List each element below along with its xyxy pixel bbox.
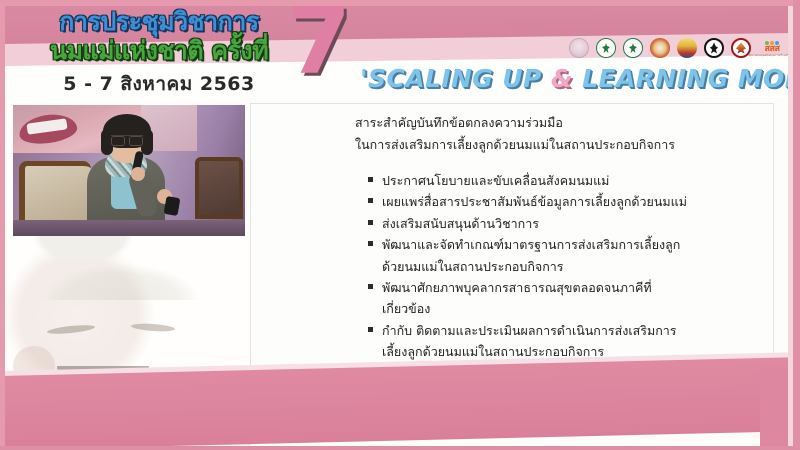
red-seal-logo: [730, 28, 752, 58]
stage-floor: [13, 220, 245, 236]
speaker-presentation-video[interactable]: [13, 105, 245, 236]
speaker-hand: [131, 167, 145, 181]
green-health-logo-1: [595, 28, 617, 58]
frame-border-left: [0, 0, 5, 450]
red-seal-icon: [731, 38, 751, 58]
tagline-part-after: LEARNING MORE': [573, 64, 793, 93]
bullet-continuation-line: เกี่ยวข้อง: [368, 299, 768, 318]
bullet-item: ประกาศนโยบายและขับเคลื่อนสังคมนมแม่: [368, 171, 768, 190]
content-bullet-list: ประกาศนโยบายและขับเคลื่อนสังคมนมแม่เผยแพ…: [368, 171, 768, 363]
black-seal-logo: [703, 28, 725, 58]
bullet-item: พัฒนาศักยภาพบุคลากรสาธารณสุขตลอดจนภาคีที…: [368, 278, 768, 297]
thaihealth-word: สสส: [765, 45, 780, 54]
bullet-item: ส่งเสริมสนับสนุนด้านวิชาการ: [368, 214, 768, 233]
green-health-icon-2: [623, 38, 643, 58]
black-seal-icon: [704, 38, 724, 58]
royal-emblem-logo: [568, 28, 590, 58]
bullet-continuation-line: ด้วยนมแม่ในสถานประกอบกิจการ: [368, 257, 768, 276]
thaihealth-logo: สสส สำนักงานกองทุนสนับสนุนการสร้างเสริมส…: [757, 28, 787, 58]
chair-left: [19, 161, 91, 223]
orange-seal-icon: [650, 38, 670, 58]
royal-emblem-icon: [569, 38, 589, 58]
presentation-slide: 7 การประชุมวิชาการ นมแม่แห่งชาติ ครั้งที…: [0, 0, 800, 450]
bullet-item: พัฒนาและจัดทำเกณฑ์มาตรฐานการส่งเสริมการเ…: [368, 235, 768, 254]
slide-header-banner: 7 การประชุมวิชาการ นมแม่แห่งชาติ ครั้งที…: [5, 6, 793, 98]
speaker-glasses-icon: [111, 135, 143, 143]
frame-border-bottom: [0, 446, 800, 450]
bullet-item: เผยแพร่สื่อสารประชาสัมพันธ์ข้อมูลการเลี้…: [368, 192, 768, 211]
bullet-item: กำกับ ติดตามและประเมินผลการดำเนินการส่งเ…: [368, 321, 768, 340]
conference-date: 5 - 7 สิงหาคม 2563: [19, 69, 299, 98]
frame-border-top: [0, 0, 800, 6]
chair-right: [195, 157, 243, 219]
orange-seal-logo: [649, 28, 671, 58]
tagline-part-before: 'SCALING UP: [360, 64, 551, 93]
content-lead-line2: ในการส่งเสริมการเลี้ยงลูกด้วยนมแม่ในสถาน…: [355, 134, 775, 156]
frame-border-right: [793, 0, 800, 450]
garuda-emblem-icon: [677, 38, 697, 58]
thaihealth-subcaption: สำนักงานกองทุนสนับสนุนการสร้างเสริมสุขภา…: [746, 54, 793, 58]
conference-title-block: การประชุมวิชาการ นมแม่แห่งชาติ ครั้งที่ …: [19, 8, 299, 98]
conference-title-line2: นมแม่แห่งชาติ ครั้งที่: [19, 37, 299, 65]
green-health-logo-2: [622, 28, 644, 58]
garuda-emblem-logo: [676, 28, 698, 58]
green-health-icon-1: [596, 38, 616, 58]
content-lead-text: สาระสำคัญบันทึกข้อตกลงความร่วมมือ ในการส…: [355, 112, 775, 155]
conference-title-line1: การประชุมวิชาการ: [19, 8, 299, 36]
sponsor-logo-strip: สสส สำนักงานกองทุนสนับสนุนการสร้างเสริมส…: [568, 28, 787, 58]
conference-tagline: 'SCALING UP & LEARNING MORE': [360, 64, 793, 93]
tagline-ampersand: &: [551, 64, 573, 93]
content-lead-line1: สาระสำคัญบันทึกข้อตกลงความร่วมมือ: [355, 112, 775, 134]
